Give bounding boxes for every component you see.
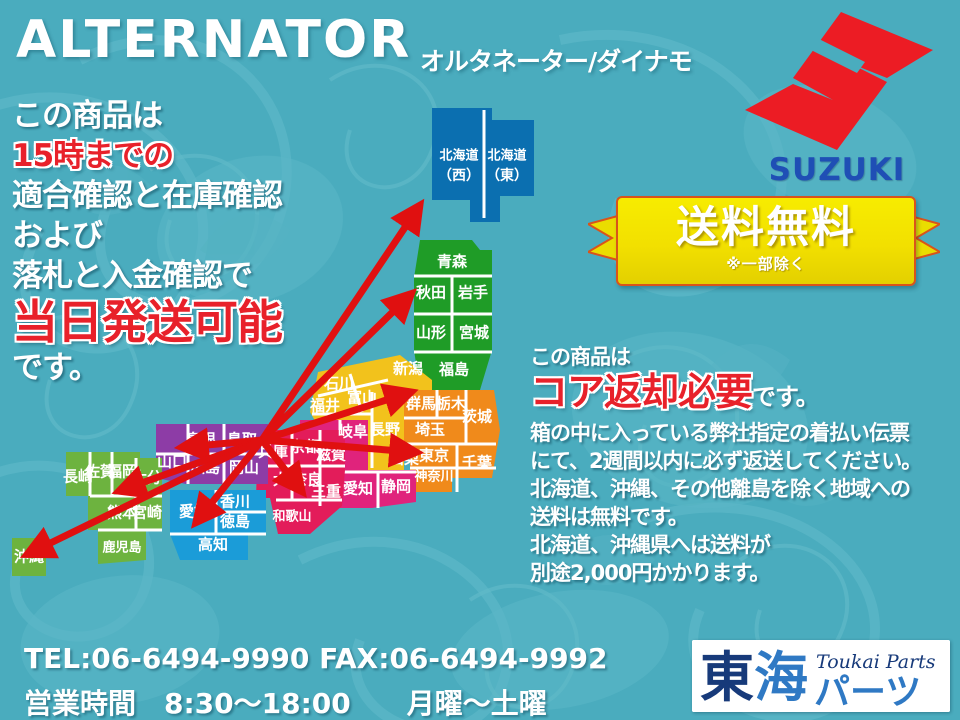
- free-shipping-ribbon: 送料無料 ※一部除く: [588, 196, 940, 288]
- right-copy-body-6: 別途2,000円かかります。: [530, 559, 950, 587]
- right-copy-body-3: 北海道、沖縄、その他離島を除く地域への: [530, 475, 950, 503]
- right-copy-block: この商品は コア返却必要です。 箱の中に入っている弊社指定の着払い伝票 にて、2…: [530, 344, 950, 587]
- arrow-to-愛知: [262, 440, 300, 489]
- arrow-to-東京: [262, 440, 413, 452]
- left-copy-block: この商品は 15時までの 適合確認と在庫確認 および 落札と入金確認で 当日発送…: [12, 96, 342, 388]
- left-copy-line-7: です。: [12, 348, 342, 388]
- ribbon-note-text: ※一部除く: [618, 256, 914, 272]
- ribbon-main-text: 送料無料: [618, 198, 914, 256]
- left-copy-highlight: 当日発送可能: [12, 296, 342, 348]
- page-subtitle: オルタネーター/ダイナモ: [420, 42, 692, 78]
- core-return-suffix: です。: [752, 383, 819, 411]
- ribbon-body: 送料無料 ※一部除く: [616, 196, 916, 286]
- suzuki-logo: SUZUKI: [722, 6, 952, 188]
- right-copy-body-5: 北海道、沖縄県へは送料が: [530, 531, 950, 559]
- suzuki-wordmark: SUZUKI: [722, 152, 952, 188]
- left-copy-line-5: 落札と入金確認で: [12, 256, 342, 296]
- left-copy-line-3: 適合確認と在庫確認: [12, 176, 342, 216]
- suzuki-s-icon: [737, 6, 937, 156]
- left-copy-line-1: この商品は: [12, 96, 342, 136]
- toukai-parts-logo: 東 海 Toukai Parts パーツ: [692, 640, 950, 712]
- right-copy-body-1: 箱の中に入っている弊社指定の着払い伝票: [530, 419, 950, 447]
- toukai-katakana: パーツ: [814, 672, 921, 712]
- left-copy-line-2: 15時までの: [12, 136, 342, 176]
- toukai-roman: Toukai Parts: [816, 651, 936, 673]
- toukai-kanji: 東: [700, 646, 754, 709]
- right-copy-body-4: 送料は無料です。: [530, 503, 950, 531]
- left-copy-line-4: および: [12, 216, 342, 256]
- right-copy-core: コア返却必要です。: [530, 370, 950, 419]
- core-return-text: コア返却必要: [530, 370, 752, 414]
- footer-hours: 営業時間 8:30〜18:00 月曜〜土曜: [24, 682, 547, 720]
- right-copy-head: この商品は: [530, 344, 950, 370]
- toukai-kanji-2: 海: [754, 646, 808, 709]
- page-title: ALTERNATOR: [16, 14, 411, 66]
- footer-contact: TEL:06-6494-9990 FAX:06-6494-9992: [24, 642, 608, 675]
- poster-canvas: ALTERNATOR オルタネーター/ダイナモ この商品は 15時までの 適合確…: [0, 0, 960, 720]
- arrow-to-沖縄: [30, 440, 262, 553]
- right-copy-body-2: にて、2週間以内に必ず返送してください。: [530, 447, 950, 475]
